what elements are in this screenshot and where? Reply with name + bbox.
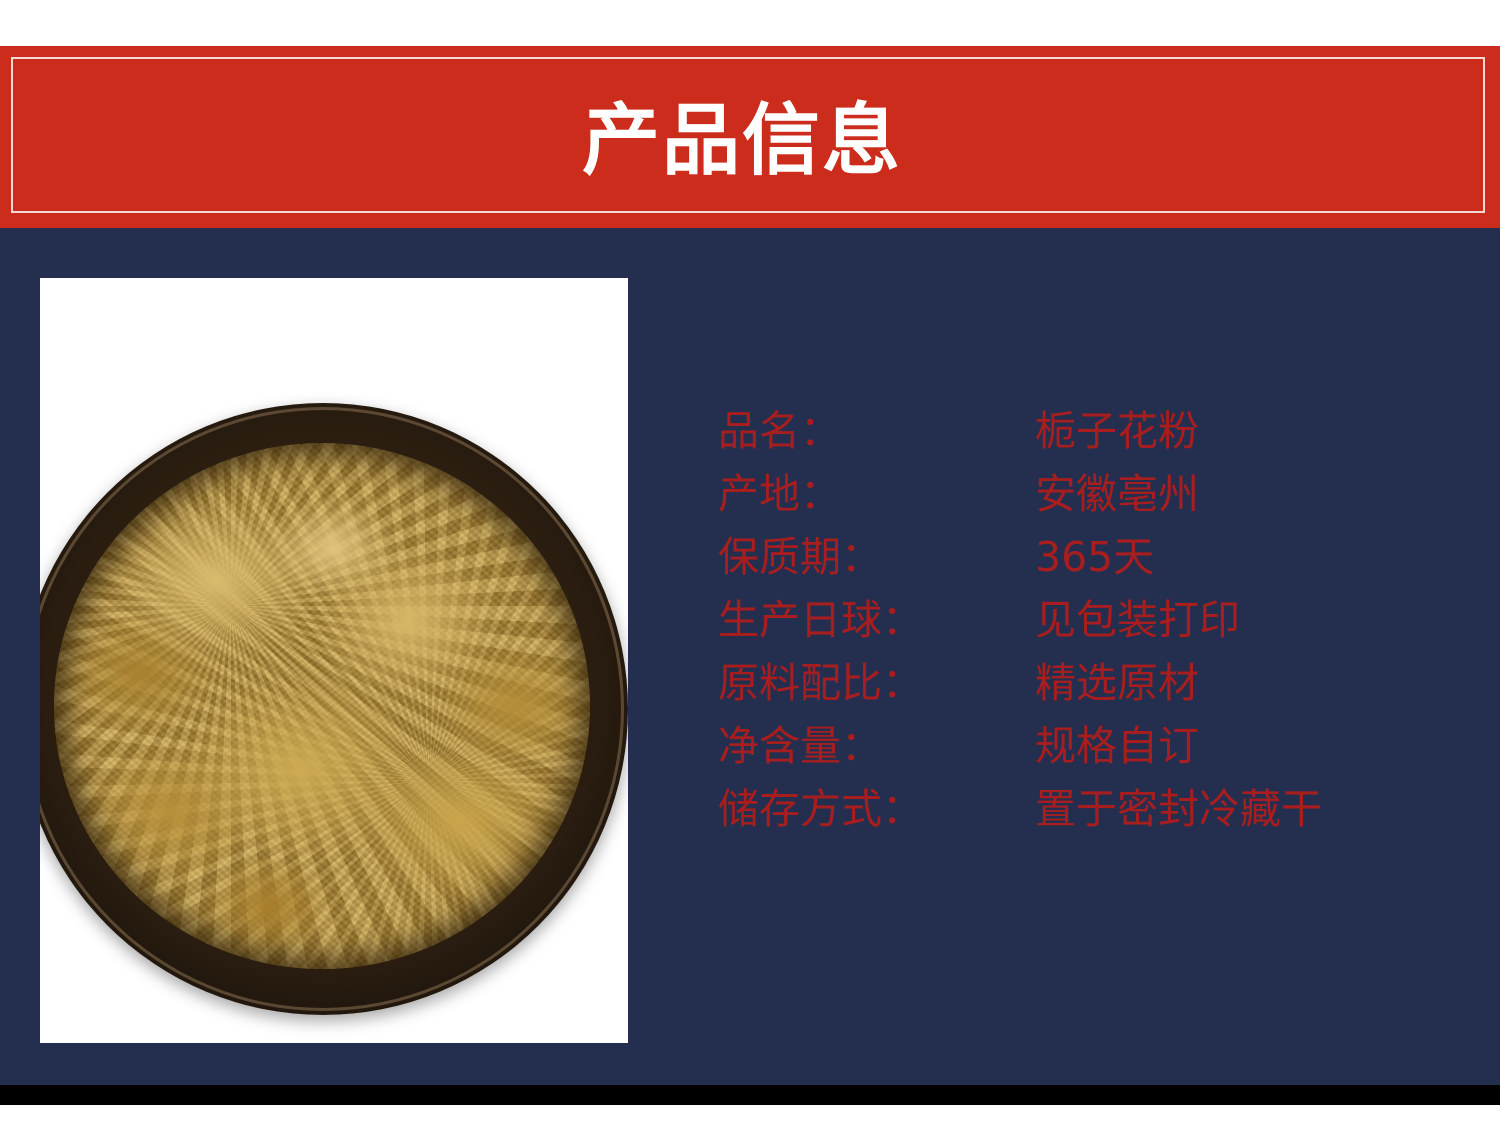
bottom-bar: [0, 1085, 1500, 1105]
page-title: 产品信息: [582, 102, 902, 180]
spec-value-net-content: 规格自订: [1035, 715, 1418, 778]
spec-row: 原料配比： 精选原材: [718, 652, 1418, 715]
spec-row: 净含量： 规格自订: [718, 715, 1418, 778]
content-panel: 品名： 栀子花粉 产地： 安徽亳州 保质期： 365天 生产日球： 见包装打印 …: [0, 228, 1500, 1085]
spec-label-production-date: 生产日球：: [718, 589, 1035, 652]
powder-fill: [54, 443, 590, 969]
spec-value-ingredient-ratio: 精选原材: [1035, 652, 1418, 715]
spec-list: 品名： 栀子花粉 产地： 安徽亳州 保质期： 365天 生产日球： 见包装打印 …: [718, 400, 1418, 841]
spec-label-storage: 储存方式：: [718, 778, 1035, 841]
spec-label-shelf-life: 保质期：: [718, 526, 1035, 589]
spec-value-product-name: 栀子花粉: [1035, 400, 1418, 463]
spec-label-net-content: 净含量：: [718, 715, 1035, 778]
product-info-page: 产品信息 品名： 栀子花粉 产地： 安徽亳州: [0, 0, 1500, 1142]
header-banner: 产品信息: [0, 46, 1500, 228]
bowl-shape: [40, 403, 628, 1015]
spec-value-storage: 置于密封冷藏干: [1035, 778, 1418, 841]
spec-label-origin: 产地：: [718, 463, 1035, 526]
powder-edge-shadow: [54, 443, 590, 969]
spec-label-ingredient-ratio: 原料配比：: [718, 652, 1035, 715]
spec-value-origin: 安徽亳州: [1035, 463, 1418, 526]
spec-label-product-name: 品名：: [718, 400, 1035, 463]
spec-row: 保质期： 365天: [718, 526, 1418, 589]
spec-row: 品名： 栀子花粉: [718, 400, 1418, 463]
spec-row: 产地： 安徽亳州: [718, 463, 1418, 526]
spec-value-shelf-life: 365天: [1035, 526, 1418, 589]
spec-row: 储存方式： 置于密封冷藏干: [718, 778, 1418, 841]
banner-title-wrap: 产品信息: [0, 46, 1500, 228]
product-photo: [40, 278, 628, 1043]
spec-value-production-date: 见包装打印: [1035, 589, 1418, 652]
spec-row: 生产日球： 见包装打印: [718, 589, 1418, 652]
